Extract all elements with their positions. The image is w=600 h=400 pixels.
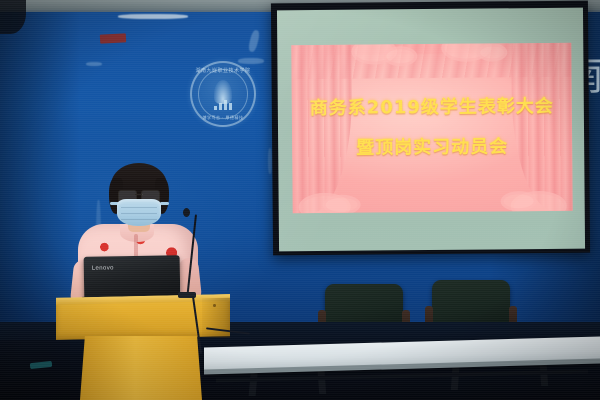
surgical-mask xyxy=(117,199,161,226)
slide-title-line-2: 暨顶岗实习动员会 xyxy=(292,134,572,162)
microphone-head xyxy=(183,208,190,217)
lectern-body xyxy=(80,336,202,400)
mask-pleat xyxy=(121,213,157,214)
conference-chair-right xyxy=(432,280,510,328)
bars-icon xyxy=(214,100,232,110)
college-emblem: 湖南九嶷职业技术学院 博学笃志 · 厚德精技 xyxy=(190,61,256,127)
mask-pleat xyxy=(121,219,157,220)
lectern-side-shadow xyxy=(202,298,230,339)
wall-scuff xyxy=(238,58,264,64)
lectern-screw xyxy=(213,304,216,307)
wooden-lectern xyxy=(56,296,230,400)
wall-shadow-left xyxy=(0,12,80,332)
emblem-arc-bottom-text: 博学笃志 · 厚德精技 xyxy=(192,115,254,121)
laptop-brand-label: Lenovo xyxy=(92,265,114,271)
wall-scuff xyxy=(86,62,102,66)
projection-screen: 商务系2019级学生表彰大会 暨顶岗实习动员会 xyxy=(271,1,590,256)
chair-back xyxy=(432,280,510,328)
cloud-decor xyxy=(323,195,361,214)
mask-pleat xyxy=(121,207,157,208)
laptop-lid: Lenovo xyxy=(84,255,181,299)
emblem-arc-top-text: 湖南九嶷职业技术学院 xyxy=(192,67,254,74)
slide-title-block: 商务系2019级学生表彰大会 暨顶岗实习动员会 xyxy=(292,94,573,162)
presentation-slide: 商务系2019级学生表彰大会 暨顶岗实习动员会 xyxy=(291,43,572,213)
wall-red-mark xyxy=(100,33,126,43)
photo-scene: 湖南九嶷职业技术学院 博学笃志 · 厚德精技 ‹ 南 OLLE Redhead xyxy=(0,0,600,400)
mask-strap-right xyxy=(160,202,169,205)
slide-title-line-1: 商务系2019级学生表彰大会 xyxy=(292,94,572,122)
foreground-shadow xyxy=(0,340,70,400)
wall-scuff xyxy=(118,14,188,19)
screen-canvas: 商务系2019级学生表彰大会 暨顶岗实习动员会 xyxy=(277,8,585,252)
